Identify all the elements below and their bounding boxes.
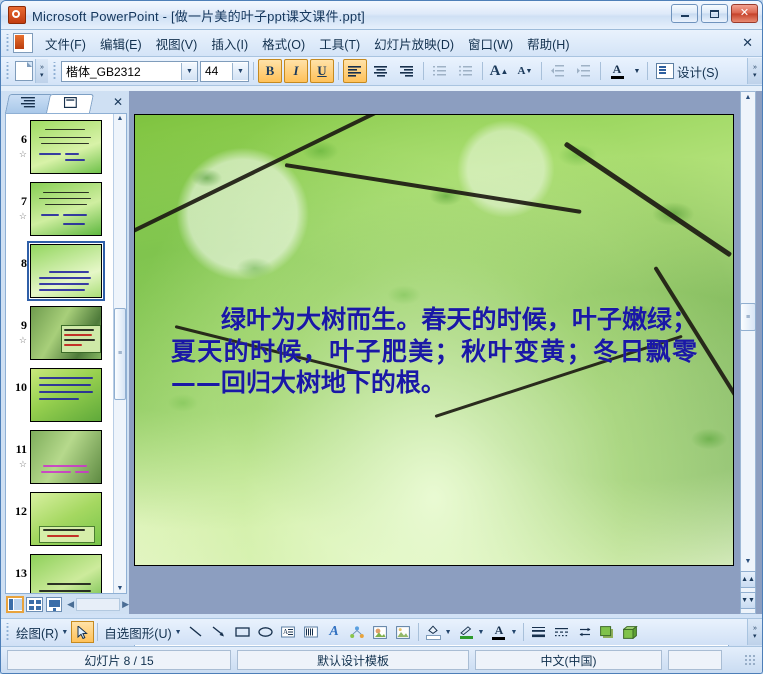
toolbar-separator: [482, 62, 483, 80]
font-name-value: 楷体_GB2312: [62, 63, 145, 80]
scroll-up-icon[interactable]: ▲: [117, 114, 124, 123]
dash-style-icon[interactable]: [550, 621, 573, 643]
scrollbar-thumb[interactable]: ≡: [114, 308, 126, 400]
normal-view-icon[interactable]: [7, 597, 23, 612]
status-bar: 幻灯片 8 / 15 默认设计模板 中文(中国): [1, 646, 762, 673]
menu-file[interactable]: 文件(F): [38, 31, 93, 56]
close-button[interactable]: ✕: [731, 4, 758, 23]
thumbnail-item-6[interactable]: 6☆: [6, 116, 113, 178]
thumbnail-scroll-content: 6☆ 7☆: [6, 114, 113, 593]
thumbnail-preview: [30, 368, 102, 422]
design-template-status[interactable]: 默认设计模板: [237, 650, 469, 670]
menu-edit[interactable]: 编辑(E): [93, 31, 149, 56]
scroll-down-icon[interactable]: ▼: [117, 584, 124, 593]
document-icon: [13, 33, 33, 53]
thumbnail-preview: [30, 182, 102, 236]
chevron-down-icon[interactable]: ▼: [181, 63, 197, 80]
slide-paragraph: 绿叶为大树而生。春天的时候，叶子嫩绿；夏天的时候，叶子肥美；秋叶变黄；冬日飘零—…: [171, 304, 697, 399]
fill-color-icon[interactable]: [422, 621, 445, 643]
resize-grip[interactable]: [744, 654, 756, 666]
align-left-icon[interactable]: [343, 59, 367, 83]
slide-counter: 幻灯片 8 / 15: [7, 650, 231, 670]
autoshapes-label[interactable]: 自选图形(U): [101, 623, 174, 642]
powerpoint-window: Microsoft PowerPoint - [做一片美的叶子ppt课文课件.p…: [0, 0, 763, 674]
scroll-down-icon[interactable]: ▼: [745, 556, 752, 567]
chevron-down-icon[interactable]: ▼: [445, 629, 455, 636]
font-color-icon[interactable]: A: [605, 59, 629, 83]
chevron-down-icon[interactable]: ▼: [478, 629, 488, 636]
demote-indent-icon[interactable]: [572, 59, 596, 83]
rectangle-icon[interactable]: [231, 621, 254, 643]
status-extra-cell: [668, 650, 722, 670]
font-name-combo[interactable]: 楷体_GB2312 ▼: [61, 61, 198, 82]
scrollbar-thumb[interactable]: ≡: [740, 303, 756, 331]
toolbar-options-left-icon[interactable]: »▾: [35, 59, 48, 83]
design-icon: [656, 63, 674, 79]
insert-picture-icon[interactable]: [392, 621, 415, 643]
clip-art-icon[interactable]: [369, 621, 392, 643]
thumbnail-number: 12: [7, 492, 30, 519]
thumbnail-preview: [30, 430, 102, 484]
animation-star-icon: ☆: [7, 459, 27, 470]
toolbar-separator: [418, 623, 419, 641]
toolbar-separator: [523, 623, 524, 641]
window-controls: ✕: [671, 4, 758, 23]
minimize-button[interactable]: [671, 4, 698, 23]
toolbar-grip-handle-2[interactable]: [51, 62, 58, 80]
chevron-down-icon[interactable]: ▼: [510, 629, 520, 636]
vertical-text-box-icon[interactable]: [300, 621, 323, 643]
chevron-down-icon[interactable]: ▼: [631, 59, 643, 83]
drawbar-grip-handle[interactable]: [4, 623, 11, 641]
hscroll-track[interactable]: [76, 598, 120, 611]
slide-sorter-icon[interactable]: [26, 597, 42, 612]
menu-grip-handle[interactable]: [4, 34, 11, 52]
view-mode-buttons: ◀ ▶: [1, 594, 129, 614]
toolbar-options-icon[interactable]: »▾: [747, 619, 762, 645]
word-art-icon[interactable]: A: [323, 621, 346, 643]
shadow-style-icon[interactable]: [596, 621, 619, 643]
next-slide-button[interactable]: ▼▼: [740, 592, 756, 609]
numbered-list-icon[interactable]: [428, 59, 452, 83]
current-slide[interactable]: 绿叶为大树而生。春天的时候，叶子嫩绿；夏天的时候，叶子肥美；秋叶变黄；冬日飘零—…: [134, 114, 734, 566]
slide-thumbnail-list[interactable]: 6☆ 7☆: [5, 113, 127, 594]
drawing-toolbar: 绘图(R) ▼ 自选图形(U) ▼ A A: [1, 618, 762, 645]
toolbar-separator: [253, 62, 254, 80]
thumbnail-item-13[interactable]: 13: [6, 550, 113, 593]
thumbnail-preview-selected: [30, 244, 102, 298]
new-slide-icon[interactable]: [15, 61, 33, 81]
powerpoint-icon: [8, 6, 26, 24]
menu-view[interactable]: 视图(V): [149, 31, 205, 56]
align-center-icon[interactable]: [369, 59, 393, 83]
svg-text:A: A: [283, 628, 288, 636]
promote-indent-icon[interactable]: [546, 59, 570, 83]
line-icon[interactable]: [185, 621, 208, 643]
formatting-toolbar: »▾ 楷体_GB2312 ▼ 44 ▼ B I U: [1, 57, 762, 86]
scroll-right-icon[interactable]: ▶: [122, 599, 129, 610]
slide-thumbnail-pane: ✕ 6☆: [1, 91, 129, 614]
toolbar-separator: [600, 62, 601, 80]
thumbnail-preview: [30, 306, 102, 360]
thumbnail-number: 7☆: [7, 182, 30, 222]
menu-format[interactable]: 格式(O): [255, 31, 312, 56]
menu-slideshow[interactable]: 幻灯片放映(D): [367, 31, 461, 56]
toolbar-grip-handle-1[interactable]: [4, 62, 11, 80]
arrow-icon[interactable]: [208, 621, 231, 643]
thumbnail-number: 6☆: [7, 120, 30, 160]
thumbnail-preview: [30, 554, 102, 593]
thumbnail-hscroll[interactable]: ◀ ▶: [67, 598, 129, 611]
increase-font-size-icon[interactable]: A▲: [487, 59, 511, 83]
pane-tabs: ✕: [1, 91, 129, 113]
thumbnail-item-8[interactable]: 8: [6, 240, 113, 302]
toolbar-separator: [647, 62, 648, 80]
thumbnail-number: 11☆: [7, 430, 30, 470]
chevron-down-icon[interactable]: ▼: [232, 63, 248, 80]
thumbnail-item-7[interactable]: 7☆: [6, 178, 113, 240]
thumbnail-item-9[interactable]: 9☆: [6, 302, 113, 364]
thumbnail-preview: [30, 120, 102, 174]
slide-edit-pane: 绿叶为大树而生。春天的时候，叶子嫩绿；夏天的时候，叶子肥美；秋叶变黄；冬日飘零—…: [129, 91, 762, 614]
menu-window[interactable]: 窗口(W): [461, 31, 520, 56]
window-title: Microsoft PowerPoint - [做一片美的叶子ppt课文课件.p…: [32, 6, 365, 25]
slide-show-icon[interactable]: [46, 597, 62, 612]
scroll-up-icon[interactable]: ▲: [745, 92, 752, 103]
animation-star-icon: ☆: [7, 335, 27, 346]
work-area: ✕ 6☆: [1, 91, 762, 614]
animation-star-icon: ☆: [7, 149, 27, 160]
menu-insert[interactable]: 插入(I): [204, 31, 255, 56]
toolbar-separator: [338, 62, 339, 80]
tab-slides[interactable]: [46, 94, 94, 113]
thumbnail-number: 10: [7, 368, 30, 395]
decrease-font-size-icon[interactable]: A▼: [513, 59, 537, 83]
align-right-icon[interactable]: [395, 59, 419, 83]
chevron-down-icon[interactable]: ▼: [61, 629, 71, 636]
design-label: 设计(S): [677, 62, 719, 81]
slide-vertical-scrollbar[interactable]: ▲ ≡ ▼ ▲▲ ▼▼: [740, 91, 756, 614]
chevron-down-icon[interactable]: ▼: [175, 629, 185, 636]
font-size-combo[interactable]: 44 ▼: [200, 61, 249, 82]
select-arrow-icon[interactable]: [71, 621, 94, 643]
close-pane-icon[interactable]: ✕: [113, 95, 123, 109]
previous-slide-button[interactable]: ▲▲: [740, 571, 756, 588]
toolbar-separator: [97, 623, 98, 641]
animation-star-icon: ☆: [7, 211, 27, 222]
thumbnail-item-11[interactable]: 11☆: [6, 426, 113, 488]
thumbnail-number: 13: [7, 554, 30, 581]
scroll-left-icon[interactable]: ◀: [67, 599, 74, 610]
line-style-icon[interactable]: [527, 621, 550, 643]
thumbnail-item-12[interactable]: 12: [6, 488, 113, 550]
toolbar-separator: [423, 62, 424, 80]
diagram-icon[interactable]: [346, 621, 369, 643]
close-document-icon[interactable]: ✕: [742, 35, 753, 51]
thumbnail-number: 8: [7, 244, 30, 271]
thumbnail-number: 9☆: [7, 306, 30, 346]
thumbnail-preview: [30, 492, 102, 546]
font-color-icon[interactable]: A: [487, 621, 510, 643]
bold-button[interactable]: B: [258, 59, 282, 83]
oval-icon[interactable]: [254, 621, 277, 643]
font-color-letter: A: [613, 63, 622, 75]
maximize-button[interactable]: [701, 4, 728, 23]
3d-style-icon[interactable]: [619, 621, 642, 643]
toolbar-separator: [541, 62, 542, 80]
menu-help[interactable]: 帮助(H): [520, 31, 576, 56]
slide-text-body[interactable]: 绿叶为大树而生。春天的时候，叶子嫩绿；夏天的时候，叶子肥美；秋叶变黄；冬日飘零—…: [171, 304, 697, 399]
text-box-icon[interactable]: A: [277, 621, 300, 643]
bulleted-list-icon[interactable]: [454, 59, 478, 83]
menu-tools[interactable]: 工具(T): [312, 31, 367, 56]
title-bar: Microsoft PowerPoint - [做一片美的叶子ppt课文课件.p…: [1, 1, 762, 30]
draw-menu-label[interactable]: 绘图(R): [13, 623, 61, 642]
thumbnail-scrollbar[interactable]: ▲ ≡ ▼: [113, 114, 126, 593]
design-button[interactable]: 设计(S): [651, 62, 724, 81]
arrow-style-icon[interactable]: [573, 621, 596, 643]
menu-bar: 文件(F) 编辑(E) 视图(V) 插入(I) 格式(O) 工具(T) 幻灯片放…: [1, 30, 762, 57]
underline-button[interactable]: U: [310, 59, 334, 83]
line-color-icon[interactable]: [455, 621, 478, 643]
font-size-value: 44: [201, 64, 222, 78]
italic-button[interactable]: I: [284, 59, 308, 83]
thumbnail-item-10[interactable]: 10: [6, 364, 113, 426]
toolbar-options-icon[interactable]: »▾: [747, 58, 762, 84]
language-status[interactable]: 中文(中国): [475, 650, 662, 670]
